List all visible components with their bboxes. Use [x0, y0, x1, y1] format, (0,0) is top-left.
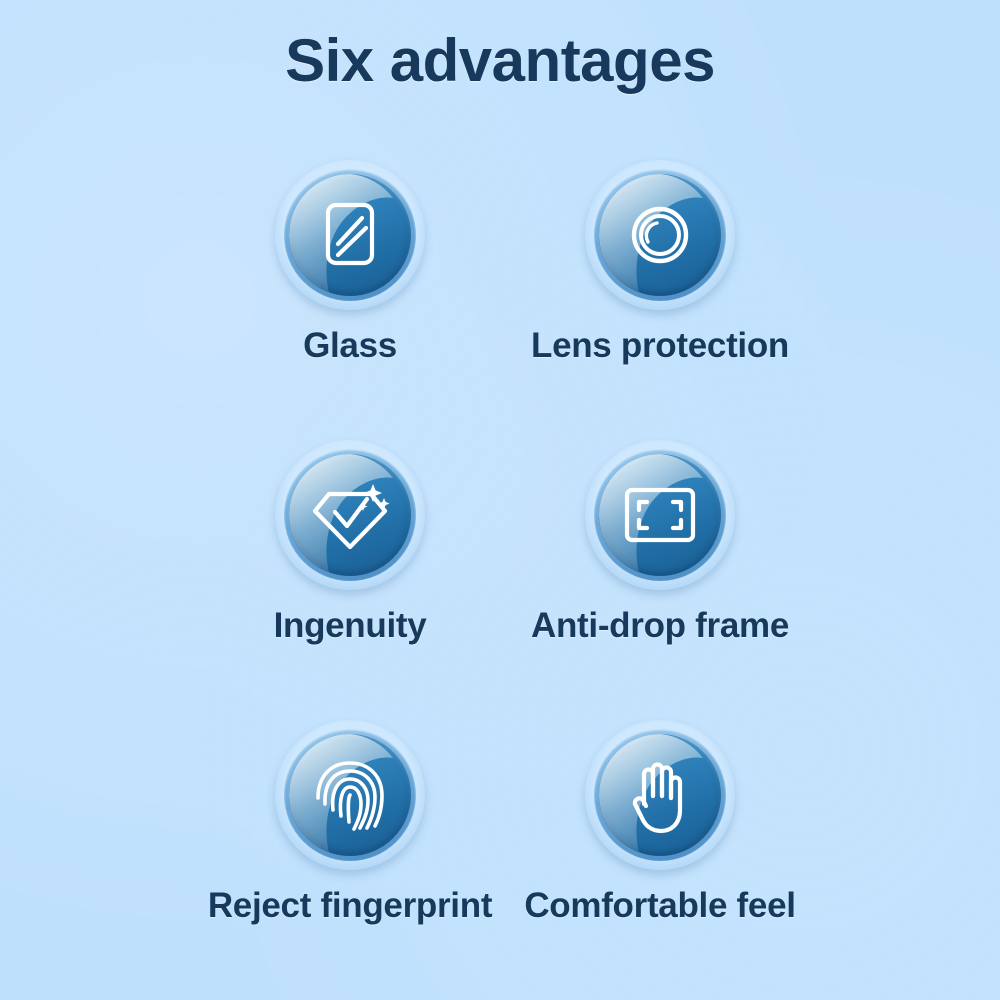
- feature-row-3: Reject fingerprint: [0, 720, 1000, 1000]
- features-grid: Glass: [0, 160, 1000, 1000]
- feature-anti-drop-frame[interactable]: Anti-drop frame: [450, 440, 870, 646]
- badge-disc: [289, 454, 411, 576]
- badge-glass[interactable]: [275, 160, 425, 310]
- feature-row-1: Glass: [0, 160, 1000, 440]
- feature-row-2: Ingenuity: [0, 440, 1000, 720]
- badge-disc: [599, 174, 721, 296]
- badge-reject-fingerprint[interactable]: [275, 720, 425, 870]
- badge-disc: [599, 454, 721, 576]
- sparkle-group: [359, 484, 390, 511]
- badge-gloss-highlight: [289, 174, 411, 296]
- page-title: Six advantages: [0, 26, 1000, 95]
- frame-corners-icon: [599, 454, 721, 576]
- badge-disc: [289, 174, 411, 296]
- feature-label: Comfortable feel: [450, 886, 870, 926]
- badge-comfortable-feel[interactable]: [585, 720, 735, 870]
- badge-disc: [289, 734, 411, 856]
- badge-gloss-highlight: [289, 734, 411, 856]
- feature-lens-protection[interactable]: Lens protection: [450, 160, 870, 366]
- fingerprint-icon: [289, 734, 411, 856]
- badge-gloss-highlight: [599, 734, 721, 856]
- feature-label: Lens protection: [450, 326, 870, 366]
- camera-lens-icon: [599, 174, 721, 296]
- badge-disc: [599, 734, 721, 856]
- hand-icon: [599, 734, 721, 856]
- glass-panel-icon: [289, 174, 411, 296]
- feature-label: Anti-drop frame: [450, 606, 870, 646]
- badge-anti-drop-frame[interactable]: [585, 440, 735, 590]
- badge-gloss-highlight: [599, 174, 721, 296]
- badge-lens-protection[interactable]: [585, 160, 735, 310]
- badge-ingenuity[interactable]: [275, 440, 425, 590]
- badge-gloss-highlight: [599, 454, 721, 576]
- diamond-check-icon: [289, 454, 411, 576]
- badge-gloss-highlight: [289, 454, 411, 576]
- feature-comfortable-feel[interactable]: Comfortable feel: [450, 720, 870, 926]
